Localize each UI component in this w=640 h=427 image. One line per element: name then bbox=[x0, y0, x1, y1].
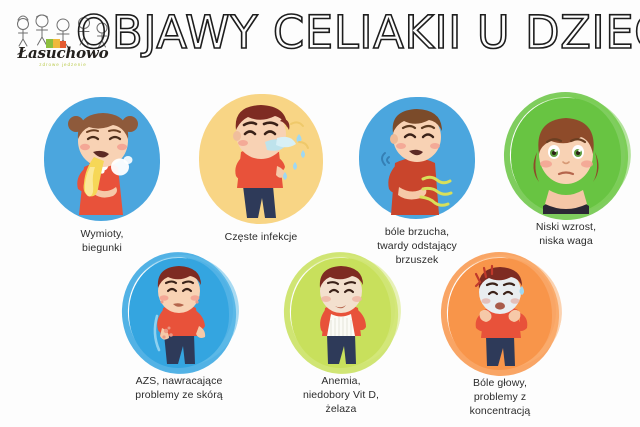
symptom-card-atopic-dermatitis: AZS, nawracające problemy ze skórą bbox=[109, 258, 249, 402]
boy-sneezing-illustration bbox=[199, 94, 323, 224]
symptom-card-headache-concentration: Bóle głowy, problemy z koncentracją bbox=[430, 258, 570, 418]
symptom-caption: Wymioty, biegunki bbox=[32, 227, 172, 255]
symptom-card-abdominal-pain: bóle brzucha, twardy odstający brzuszek bbox=[345, 97, 489, 267]
symptom-card-frequent-infections: Częste infekcje bbox=[188, 94, 334, 244]
symptom-card-vomiting-diarrhea: Wymioty, biegunki bbox=[32, 97, 172, 255]
symptom-card-anemia-deficiency: Anemia, niedobory Vit D, żelaza bbox=[271, 258, 411, 416]
boy-pale-apron-illustration bbox=[291, 258, 391, 368]
symptom-caption: Niski wzrost, niska waga bbox=[499, 220, 633, 248]
girl-sad-face-illustration bbox=[511, 98, 621, 214]
symptom-bubble bbox=[44, 97, 160, 221]
symptom-bubble bbox=[359, 97, 475, 219]
boy-stomach-ache-illustration bbox=[359, 97, 475, 219]
boy-headache-illustration bbox=[448, 258, 552, 370]
symptom-caption: AZS, nawracające problemy ze skórą bbox=[109, 374, 249, 402]
symptom-bubble bbox=[291, 258, 391, 368]
symptom-bubble bbox=[511, 98, 621, 214]
symptom-caption: Anemia, niedobory Vit D, żelaza bbox=[271, 374, 411, 416]
symptom-bubble bbox=[199, 94, 323, 224]
symptom-bubble bbox=[129, 258, 229, 368]
page-title: OBJAWY CELIAKII U DZIECI bbox=[76, 6, 632, 62]
poster-header: Łasuchowo zdrowe jedzenie OBJAWY CELIAKI… bbox=[0, 0, 640, 82]
symptom-caption: Bóle głowy, problemy z koncentracją bbox=[430, 376, 570, 418]
girl-vomiting-illustration bbox=[44, 97, 160, 221]
symptom-bubble bbox=[448, 258, 552, 370]
infographic-poster: Łasuchowo zdrowe jedzenie OBJAWY CELIAKI… bbox=[0, 0, 640, 427]
logo-tagline: zdrowe jedzenie bbox=[11, 62, 115, 67]
symptom-caption: Częste infekcje bbox=[188, 230, 334, 244]
boy-skin-rash-illustration bbox=[129, 258, 229, 368]
symptom-card-low-height-weight: Niski wzrost, niska waga bbox=[499, 98, 633, 248]
